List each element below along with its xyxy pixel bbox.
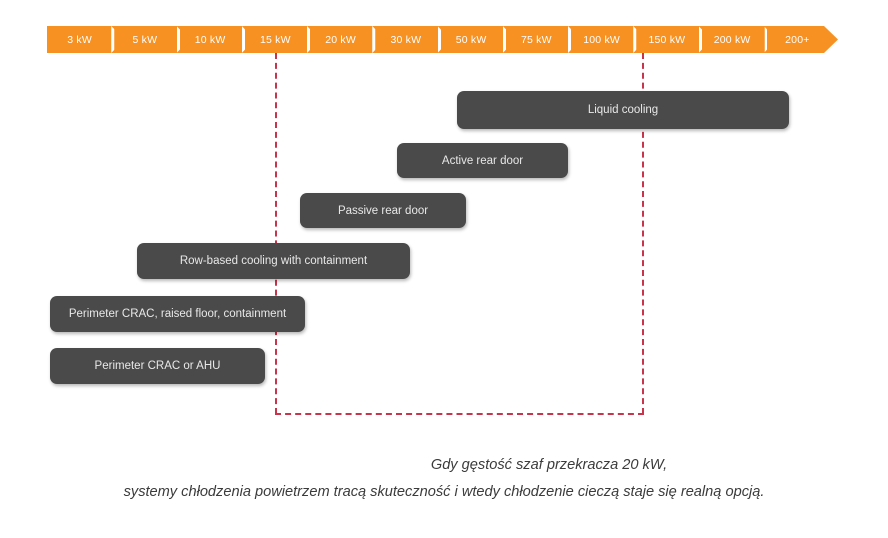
range-bar-perimeter-crac-raised-floor: Perimeter CRAC, raised floor, containmen… xyxy=(50,296,305,332)
power-density-scale-ribbon: 3 kW 5 kW 10 kW 15 kW 20 kW 30 kW 50 kW … xyxy=(47,26,838,53)
diagram-caption: Gdy gęstość szaf przekracza 20 kW, syste… xyxy=(0,452,888,506)
range-bar-label: Liquid cooling xyxy=(588,104,658,116)
range-bar-label: Perimeter CRAC, raised floor, containmen… xyxy=(69,308,286,320)
threshold-line-20kw xyxy=(275,53,277,414)
caption-line-1: Gdy gęstość szaf przekracza 20 kW, xyxy=(0,452,888,479)
scale-segment-label: 5 kW xyxy=(133,34,158,46)
range-bar-label: Row-based cooling with containment xyxy=(180,255,367,267)
caption-line-2: systemy chłodzenia powietrzem tracą skut… xyxy=(0,479,888,506)
scale-segment-30kw: 30 kW xyxy=(373,26,438,53)
scale-segment-label: 3 kW xyxy=(67,34,92,46)
cooling-density-diagram: 3 kW 5 kW 10 kW 15 kW 20 kW 30 kW 50 kW … xyxy=(0,0,888,538)
range-bar-liquid-cooling: Liquid cooling xyxy=(457,91,789,129)
scale-segment-200kw: 200 kW xyxy=(700,26,765,53)
scale-segment-label: 200+ xyxy=(785,34,809,46)
range-bar-row-based-cooling: Row-based cooling with containment xyxy=(137,243,410,279)
scale-segment-20kw: 20 kW xyxy=(308,26,373,53)
scale-segment-label: 10 kW xyxy=(195,34,226,46)
scale-segment-label: 15 kW xyxy=(260,34,291,46)
scale-segment-label: 30 kW xyxy=(390,34,421,46)
scale-segment-10kw: 10 kW xyxy=(178,26,243,53)
scale-segment-75kw: 75 kW xyxy=(504,26,569,53)
scale-segment-label: 200 kW xyxy=(714,34,751,46)
range-bar-label: Perimeter CRAC or AHU xyxy=(95,360,221,372)
scale-segment-200plus: 200+ xyxy=(765,26,838,53)
scale-segment-label: 150 kW xyxy=(648,34,685,46)
scale-segment-100kw: 100 kW xyxy=(569,26,634,53)
threshold-connector-line xyxy=(275,413,644,415)
range-bar-perimeter-crac-or-ahu: Perimeter CRAC or AHU xyxy=(50,348,265,384)
scale-segment-label: 100 kW xyxy=(583,34,620,46)
scale-segment-label: 50 kW xyxy=(456,34,487,46)
scale-segment-5kw: 5 kW xyxy=(112,26,177,53)
range-bar-label: Passive rear door xyxy=(338,205,428,217)
scale-segment-3kw: 3 kW xyxy=(47,26,112,53)
scale-segment-label: 75 kW xyxy=(521,34,552,46)
range-bar-passive-rear-door: Passive rear door xyxy=(300,193,466,228)
scale-segment-50kw: 50 kW xyxy=(439,26,504,53)
scale-segment-15kw: 15 kW xyxy=(243,26,308,53)
range-bar-active-rear-door: Active rear door xyxy=(397,143,568,178)
scale-segment-label: 20 kW xyxy=(325,34,356,46)
scale-segment-150kw: 150 kW xyxy=(634,26,699,53)
range-bar-label: Active rear door xyxy=(442,155,523,167)
